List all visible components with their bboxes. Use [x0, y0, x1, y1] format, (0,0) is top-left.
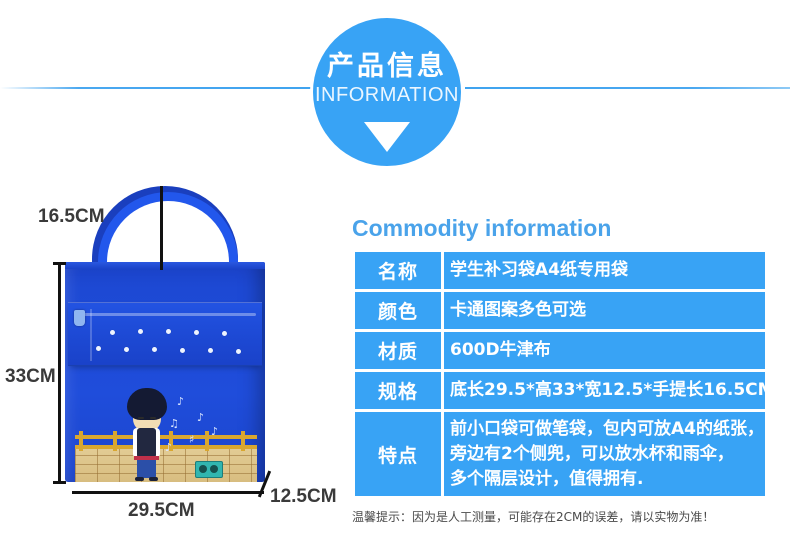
dimension-bag-width: 29.5CM: [128, 500, 195, 522]
handle-measure-line: [160, 186, 163, 270]
commodity-information-heading: Commodity information: [352, 216, 768, 241]
measurement-disclaimer: 温馨提示：因为是人工测量，可能存在2CM的误差，请以实物为准！: [352, 508, 768, 525]
boy-shoe: [135, 477, 144, 481]
music-note-icon: ♪: [197, 411, 204, 424]
height-measure-line: [58, 262, 61, 484]
spec-value-name: 学生补习袋A4纸专用袋: [444, 252, 765, 289]
spec-label-color: 颜色: [355, 292, 441, 329]
product-illustration: ♪ ♫ ♪ ♯ ♪ ♪ 16.5CM 33CM 29.5CM 12.5CM: [0, 180, 340, 540]
table-row: 规格 底长29.5*高33*宽12.5*手提长16.5CM: [355, 372, 765, 409]
spec-value-line: 多个隔层设计，值得拥有.: [450, 467, 759, 492]
commodity-information-panel: Commodity information 名称 学生补习袋A4纸专用袋 颜色 …: [352, 216, 768, 525]
cartoon-scene: ♪ ♫ ♪ ♯ ♪ ♪: [65, 364, 265, 482]
bag-body: ♪ ♫ ♪ ♯ ♪ ♪: [65, 262, 265, 482]
spec-label-features: 特点: [355, 412, 441, 496]
polka-dot: [96, 346, 101, 351]
fence-post: [205, 431, 209, 451]
spec-value-line: 卡通图案多色可选: [450, 298, 759, 323]
polka-dot: [208, 348, 213, 353]
information-badge: 产品信息 INFORMATION: [313, 18, 461, 166]
fence-post: [113, 431, 117, 451]
product-information-page: 产品信息 INFORMATION: [0, 0, 790, 553]
dimension-handle-length: 16.5CM: [38, 206, 105, 228]
polka-dot: [194, 330, 199, 335]
fence-post: [241, 431, 245, 451]
music-note-icon: ♫: [169, 417, 179, 430]
polka-dot: [236, 349, 241, 354]
boy-legs: [137, 458, 156, 478]
table-row: 颜色 卡通图案多色可选: [355, 292, 765, 329]
bag-top-seam: [65, 262, 265, 269]
boy-vest: [137, 428, 156, 458]
triangle-down-icon: [364, 122, 410, 152]
music-note-icon: ♪: [177, 395, 184, 408]
badge-title-cn: 产品信息: [313, 44, 461, 83]
spec-label-spec: 规格: [355, 372, 441, 409]
spec-value-spec: 底长29.5*高33*宽12.5*手提长16.5CM: [444, 372, 765, 409]
spec-value-line: 学生补习袋A4纸专用袋: [450, 258, 759, 283]
table-row: 材质 600D牛津布: [355, 332, 765, 369]
boy-shoe: [149, 477, 158, 481]
fence-post: [79, 431, 83, 451]
polka-dot: [166, 329, 171, 334]
fence-rail: [75, 435, 257, 439]
boombox-speaker: [199, 465, 207, 473]
specification-table: 名称 学生补习袋A4纸专用袋 颜色 卡通图案多色可选 材质 600D牛津布: [352, 249, 768, 499]
polka-dot: [110, 330, 115, 335]
music-note-icon: ♯: [189, 433, 194, 446]
header-rule-right: [465, 87, 790, 89]
spec-value-line: 底长29.5*高33*宽12.5*手提长16.5CM: [450, 378, 759, 403]
dimension-bag-height: 33CM: [5, 366, 56, 388]
zipper-line: [78, 313, 256, 316]
polka-dot: [180, 348, 185, 353]
polka-dot: [138, 329, 143, 334]
music-note-icon: ♪: [211, 425, 218, 438]
spec-label-name: 名称: [355, 252, 441, 289]
pocket-seam: [90, 309, 92, 361]
boy-hair: [127, 388, 167, 420]
front-zip-pocket: [68, 302, 262, 366]
height-measure-cap: [53, 262, 66, 265]
dimension-bag-depth: 12.5CM: [270, 486, 337, 508]
width-measure-line: [72, 491, 264, 494]
zipper-pull-icon: [74, 310, 85, 326]
boombox-speaker: [210, 465, 218, 473]
table-row: 名称 学生补习袋A4纸专用袋: [355, 252, 765, 289]
specification-table-body: 名称 学生补习袋A4纸专用袋 颜色 卡通图案多色可选 材质 600D牛津布: [355, 252, 765, 496]
table-row: 特点 前小口袋可做笔袋，包内可放A4的纸张， 旁边有2个侧兜，可以放水杯和雨伞，…: [355, 412, 765, 496]
spec-value-line: 旁边有2个侧兜，可以放水杯和雨伞，: [450, 442, 759, 467]
boombox-icon: [195, 461, 223, 478]
music-note-icon: ♪: [165, 441, 172, 454]
boy-belt: [134, 456, 159, 460]
header-rule-left: [0, 87, 315, 89]
boy-eye: [150, 417, 156, 419]
polka-dot: [152, 347, 157, 352]
height-measure-cap: [53, 481, 66, 484]
spec-value-features: 前小口袋可做笔袋，包内可放A4的纸张， 旁边有2个侧兜，可以放水杯和雨伞， 多个…: [444, 412, 765, 496]
spec-value-line: 600D牛津布: [450, 338, 759, 363]
polka-dot: [222, 331, 227, 336]
spec-value-line: 前小口袋可做笔袋，包内可放A4的纸张，: [450, 417, 759, 442]
spec-label-material: 材质: [355, 332, 441, 369]
boy-eye: [138, 417, 144, 419]
spec-value-material: 600D牛津布: [444, 332, 765, 369]
spec-value-color: 卡通图案多色可选: [444, 292, 765, 329]
badge-title-en: INFORMATION: [313, 84, 461, 107]
polka-dot: [124, 347, 129, 352]
